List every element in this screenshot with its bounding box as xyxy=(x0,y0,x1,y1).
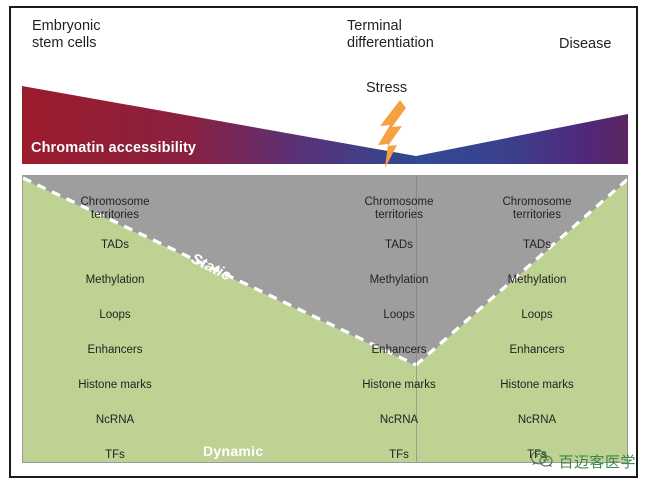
feature-label: Chromosome territories xyxy=(25,196,205,221)
feature-label: Enhancers xyxy=(25,344,205,357)
feature-label: Loops xyxy=(447,309,627,322)
stress-label: Stress xyxy=(366,80,407,96)
column-disease: Chromosome territories TADs Methylation … xyxy=(447,176,627,463)
chromatin-feature-panel: Chromosome territories TADs Methylation … xyxy=(22,175,628,463)
lightning-bolt-icon xyxy=(376,100,420,168)
figure-root: Embryonic stem cells Terminal differenti… xyxy=(0,0,650,489)
feature-label: Methylation xyxy=(447,274,627,287)
wechat-icon xyxy=(531,450,553,473)
feature-label: Histone marks xyxy=(447,379,627,392)
watermark-text: 百迈客医学 xyxy=(558,451,636,472)
column-embryonic: Chromosome territories TADs Methylation … xyxy=(25,176,205,463)
stage-label-disease: Disease xyxy=(559,36,611,53)
feature-label: Chromosome territories xyxy=(447,196,627,221)
feature-label: Histone marks xyxy=(25,379,205,392)
feature-label: TFs xyxy=(25,449,205,462)
feature-label: TADs xyxy=(25,239,205,252)
feature-label: NcRNA xyxy=(25,414,205,427)
feature-label: NcRNA xyxy=(447,414,627,427)
stage-label-embryonic-stem-cells: Embryonic stem cells xyxy=(32,18,101,52)
stage-label-terminal-differentiation: Terminal differentiation xyxy=(347,18,434,52)
watermark: 百迈客医学 xyxy=(531,450,636,473)
feature-label: TADs xyxy=(447,239,627,252)
feature-label: Loops xyxy=(25,309,205,322)
feature-label: Methylation xyxy=(25,274,205,287)
dynamic-region-label: Dynamic xyxy=(203,443,263,459)
feature-label: Enhancers xyxy=(447,344,627,357)
chromatin-accessibility-caption: Chromatin accessibility xyxy=(31,140,196,156)
